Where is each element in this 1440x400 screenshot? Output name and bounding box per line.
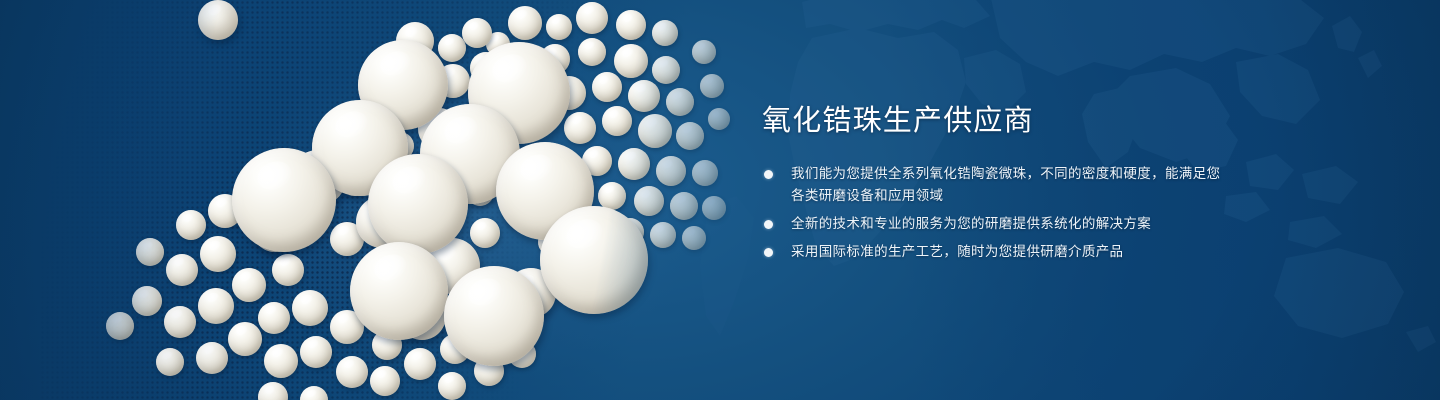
bullet-dot-icon <box>764 220 773 229</box>
bullet-dot-icon <box>764 170 773 179</box>
feature-text: 采用国际标准的生产工艺，随时为您提供研磨介质产品 <box>791 244 1123 259</box>
feature-list-item: 采用国际标准的生产工艺，随时为您提供研磨介质产品 <box>762 241 1232 263</box>
feature-list-item: 我们能为您提供全系列氧化锆陶瓷微珠，不同的密度和硬度，能满足您各类研磨设备和应用… <box>762 163 1232 207</box>
banner-content: 氧化锆珠生产供应商 我们能为您提供全系列氧化锆陶瓷微珠，不同的密度和硬度，能满足… <box>762 104 1232 263</box>
feature-text: 全新的技术和专业的服务为您的研磨提供系统化的解决方案 <box>791 216 1151 231</box>
feature-text: 我们能为您提供全系列氧化锆陶瓷微珠，不同的密度和硬度，能满足您各类研磨设备和应用… <box>791 166 1220 203</box>
banner-headline: 氧化锆珠生产供应商 <box>762 104 1232 138</box>
bullet-dot-icon <box>764 248 773 257</box>
hero-banner: 氧化锆珠生产供应商 我们能为您提供全系列氧化锆陶瓷微珠，不同的密度和硬度，能满足… <box>0 0 1440 400</box>
feature-list: 我们能为您提供全系列氧化锆陶瓷微珠，不同的密度和硬度，能满足您各类研磨设备和应用… <box>762 163 1232 263</box>
feature-list-item: 全新的技术和专业的服务为您的研磨提供系统化的解决方案 <box>762 213 1232 235</box>
